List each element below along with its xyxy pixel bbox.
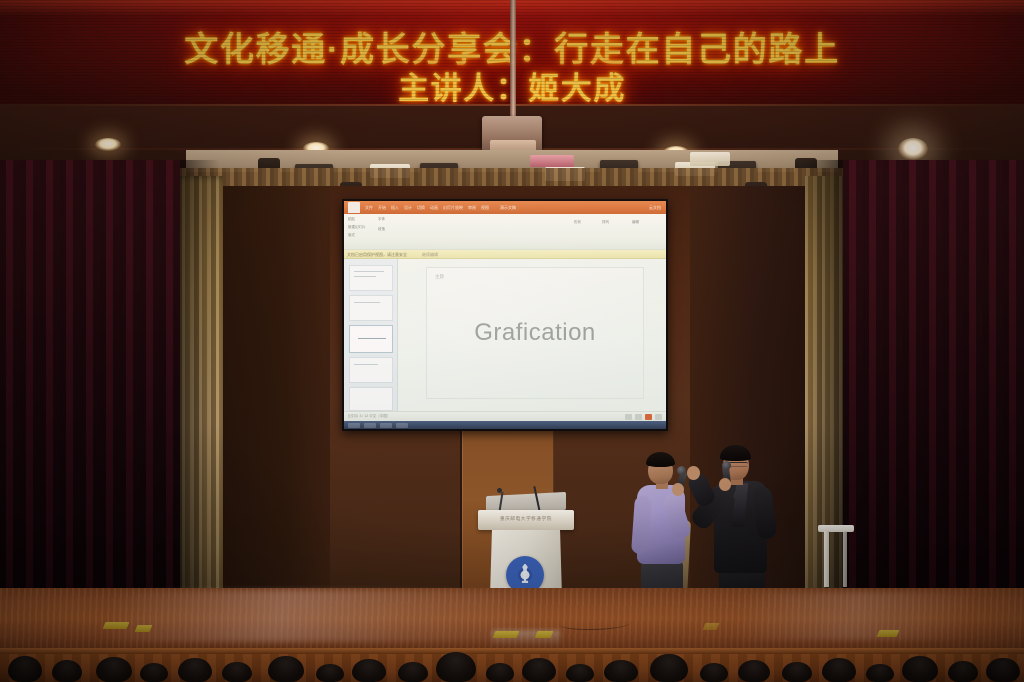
stage-light-4 <box>690 152 730 166</box>
app-logo-icon <box>348 202 360 213</box>
auditorium-stage-photo: 文化移通·成长分享会：行走在自己的路上 主讲人：姬大成 文件 <box>0 0 1024 682</box>
audience-head <box>782 662 812 682</box>
protected-view-message: 文档已启用保护视图，请注意安全 <box>347 252 407 258</box>
os-taskbar[interactable] <box>344 421 666 429</box>
slide-canvas[interactable]: 主题 Grafication <box>426 267 644 399</box>
taskbar-item-3[interactable] <box>380 423 392 428</box>
audience-head <box>268 656 304 682</box>
protected-view-bar: 文档已启用保护视图，请注意安全 继续编辑 <box>344 250 666 259</box>
slide-bullet-text: 主题 <box>435 274 444 280</box>
zoom-control-icon[interactable] <box>655 414 662 420</box>
ribbon-group-5[interactable]: 形状 <box>574 220 581 225</box>
floor-marker-4 <box>535 631 554 638</box>
podium-institution-label: 重庆邮电大学移通学院 <box>482 516 570 522</box>
curtain-shadow-left <box>180 160 220 630</box>
audience-head <box>52 660 82 682</box>
floor-light-reflection-right <box>740 592 970 640</box>
audience-head <box>902 656 938 682</box>
ceiling-downlight-4 <box>898 138 928 160</box>
floor-marker-2 <box>135 625 153 632</box>
slide-thumbnail-3[interactable] <box>349 325 393 353</box>
ribbon-group-2[interactable]: 版式 <box>348 233 355 238</box>
audience-head <box>96 657 132 682</box>
dark-curtain-right <box>843 160 1024 630</box>
podium-microphone-head <box>497 488 502 493</box>
ribbon-group-1[interactable]: 新建幻灯片 <box>348 225 366 230</box>
audience-head <box>700 663 728 682</box>
audience-head <box>316 664 344 682</box>
audience-head <box>486 663 514 682</box>
menu-item-2[interactable]: 插入 <box>391 205 399 211</box>
app-statusbar: 幻灯片 3 / 12 中文（中国） <box>344 411 666 421</box>
floor-marker-5 <box>703 623 720 630</box>
taskbar-item-1[interactable] <box>348 423 360 428</box>
audience-head <box>566 664 594 682</box>
menu-item-3[interactable]: 设计 <box>404 205 412 211</box>
speaker-hand-holding-mic <box>719 478 731 491</box>
audience-head <box>948 661 978 682</box>
audience-head <box>436 652 476 682</box>
slide-thumbnail-pane[interactable] <box>344 259 398 419</box>
audience-head <box>140 663 168 682</box>
slideshow-view-icon[interactable] <box>645 414 652 420</box>
menu-item-1[interactable]: 开始 <box>378 205 386 211</box>
side-table-leg-front <box>824 531 829 587</box>
ceiling-downlight-1 <box>95 138 121 151</box>
menu-item-6[interactable]: 幻灯片放映 <box>443 205 463 211</box>
statusbar-view-controls[interactable] <box>625 414 662 420</box>
menu-item-0[interactable]: 文件 <box>365 205 373 211</box>
ribbon-group-7[interactable]: 编辑 <box>632 220 639 225</box>
speaker-microphone-head <box>722 461 731 470</box>
floor-light-reflection-left <box>110 590 540 642</box>
slide-thumbnail-2[interactable] <box>349 295 393 321</box>
audience-head <box>352 659 386 682</box>
document-name: 演示文稿 <box>500 205 516 211</box>
normal-view-icon[interactable] <box>625 414 632 420</box>
floor-marker-1 <box>103 622 130 629</box>
slide-title-text: Grafication <box>427 319 643 347</box>
menu-item-7[interactable]: 审阅 <box>468 205 476 211</box>
audience-head <box>398 662 428 682</box>
floor-marker-3 <box>493 631 520 638</box>
floor-marker-6 <box>877 630 900 637</box>
ribbon-group-6[interactable]: 排列 <box>602 220 609 225</box>
app-titlebar: 文件 开始 插入 设计 切换 动画 幻灯片放映 审阅 视图 演示文稿 云文档 <box>344 201 666 214</box>
ribbon-group-3[interactable]: 字体 <box>378 217 385 222</box>
curtain-shadow-right <box>803 160 843 630</box>
ribbon-group-0[interactable]: 粘贴 <box>348 217 355 222</box>
audience-head <box>522 658 556 682</box>
slide-thumbnail-4[interactable] <box>349 357 393 383</box>
participant-microphone-head <box>677 466 686 475</box>
menu-item-5[interactable]: 动画 <box>430 205 438 211</box>
stage-light-pink-1 <box>530 155 574 167</box>
audience-head <box>822 658 856 682</box>
ribbon-group-4[interactable]: 段落 <box>378 227 385 232</box>
dark-curtain-left <box>0 160 180 630</box>
enable-editing-button[interactable]: 继续编辑 <box>422 252 438 258</box>
audience-head <box>178 658 212 682</box>
speaker-hand-raised <box>687 466 700 480</box>
slide-edit-area[interactable]: 主题 Grafication <box>398 259 666 411</box>
audience-head <box>650 654 688 682</box>
taskbar-item-2[interactable] <box>364 423 376 428</box>
side-table-leg-back <box>843 531 847 587</box>
cloud-doc-label[interactable]: 云文档 <box>649 205 661 211</box>
audience-head <box>604 660 638 682</box>
sorter-view-icon[interactable] <box>635 414 642 420</box>
participant-hand <box>672 483 684 496</box>
app-ribbon: 粘贴 新建幻灯片 版式 字体 段落 形状 排列 编辑 <box>344 214 666 250</box>
menu-item-4[interactable]: 切换 <box>417 205 425 211</box>
menu-item-8[interactable]: 视图 <box>481 205 489 211</box>
audience-area <box>0 654 1024 682</box>
audience-head <box>738 660 770 682</box>
audience-head <box>8 656 42 682</box>
audience-head <box>866 664 894 682</box>
statusbar-slide-info: 幻灯片 3 / 12 中文（中国） <box>348 414 390 419</box>
audience-head <box>222 662 252 682</box>
projection-screen: 文件 开始 插入 设计 切换 动画 幻灯片放映 审阅 视图 演示文稿 云文档 粘… <box>342 199 668 431</box>
taskbar-item-4[interactable] <box>396 423 408 428</box>
slide-thumbnail-5[interactable] <box>349 387 393 411</box>
slide-thumbnail-1[interactable] <box>349 265 393 291</box>
audience-head <box>986 658 1020 682</box>
projection-screen-surface: 文件 开始 插入 设计 切换 动画 幻灯片放映 审阅 视图 演示文稿 云文档 粘… <box>344 201 666 429</box>
